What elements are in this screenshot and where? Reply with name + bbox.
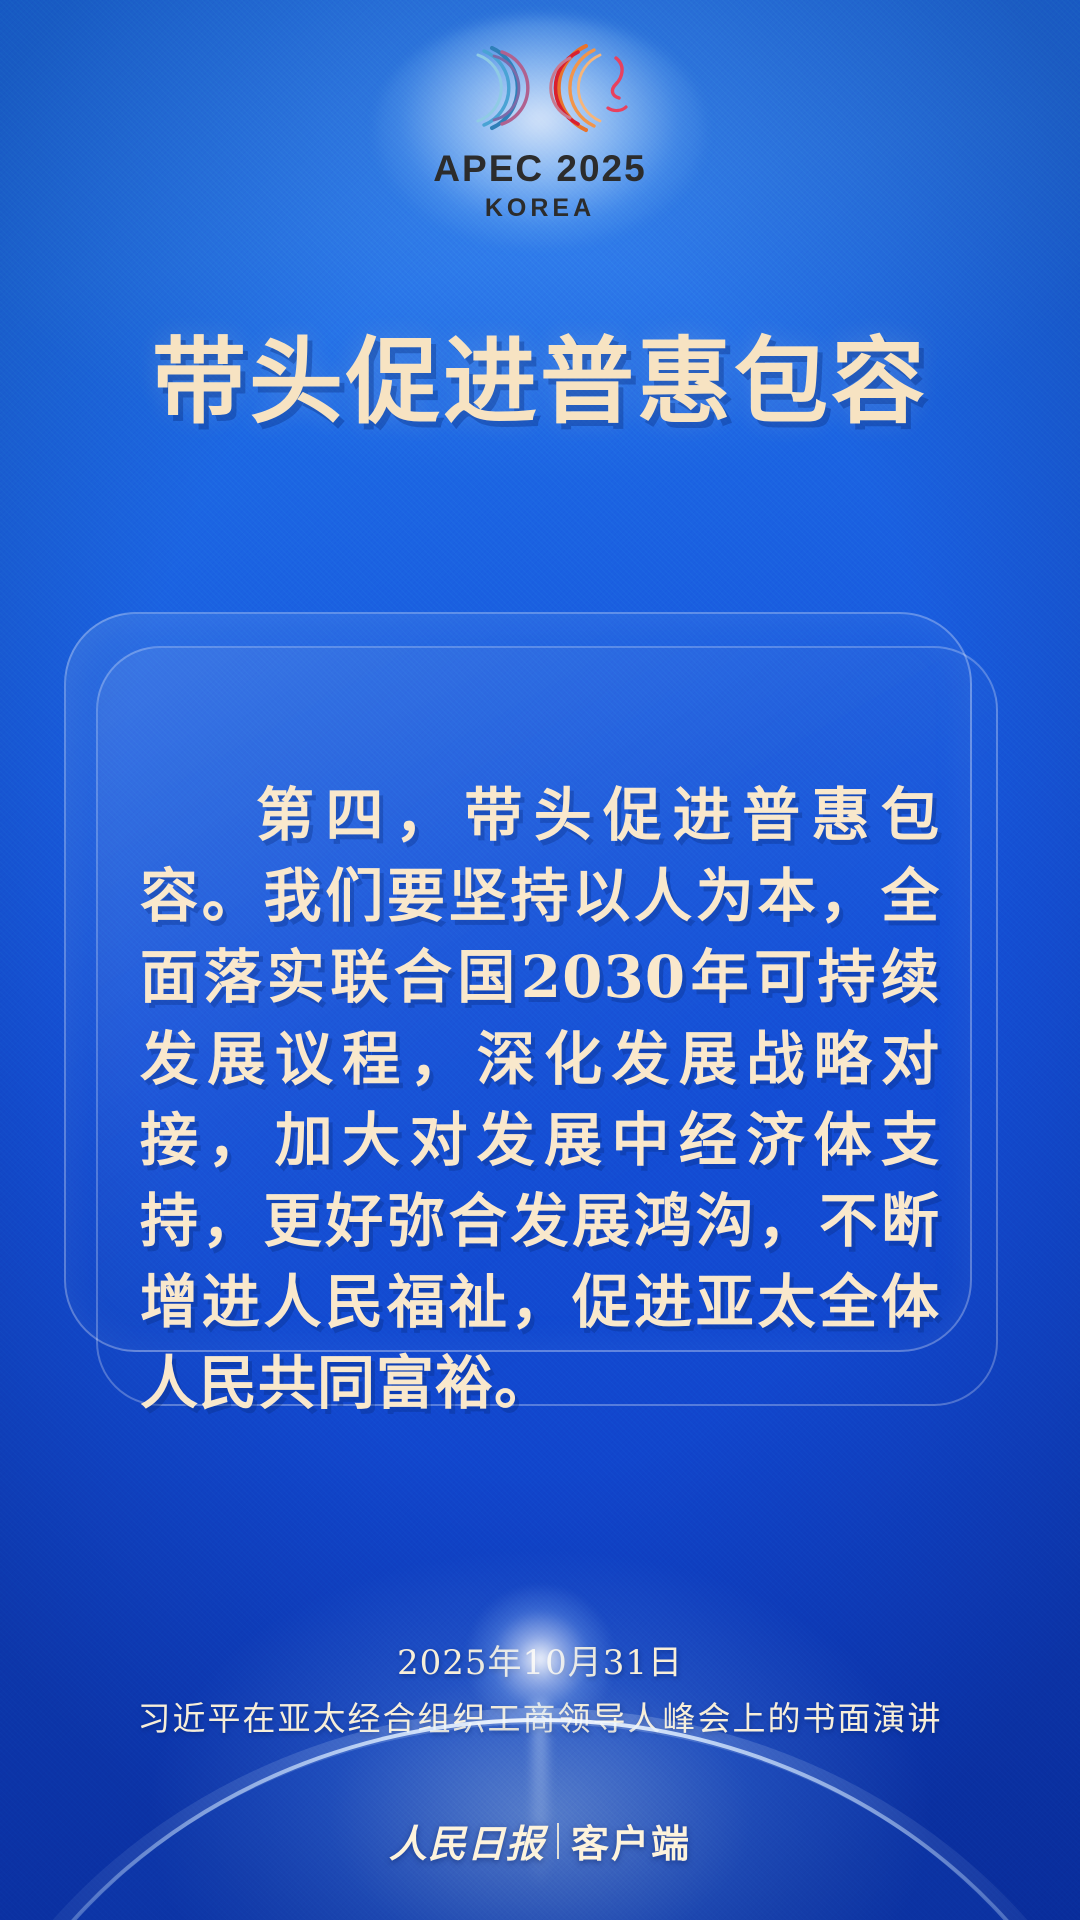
brand-divider <box>557 1823 559 1859</box>
page-title: 带头促进普惠包容 <box>0 332 1080 434</box>
apec-emblem-icon <box>420 28 660 148</box>
logo-title: APEC 2025 <box>433 150 646 187</box>
credit-date: 2025年10月31日 <box>0 1638 1080 1689</box>
apec-logo: APEC 2025 KOREA <box>0 28 1080 221</box>
credit-source: 习近平在亚太经合组织工商领导人峰会上的书面演讲 <box>0 1693 1080 1746</box>
credits-block: 2025年10月31日 习近平在亚太经合组织工商领导人峰会上的书面演讲 <box>0 1638 1080 1746</box>
brand-paper-name: 人民日报 <box>389 1813 545 1868</box>
brand-app-name: 客户端 <box>571 1813 691 1868</box>
logo-subtitle: KOREA <box>485 196 595 221</box>
quote-body-text: 第四，带头促进普惠包容。我们要坚持以人为本，全面落实联合国2030年可持续发展议… <box>140 775 940 1425</box>
publisher-brand: 人民日报 客户端 <box>0 1813 1080 1868</box>
poster-canvas: APEC 2025 KOREA 带头促进普惠包容 第四，带头促进普惠包容。我们要… <box>0 0 1080 1920</box>
